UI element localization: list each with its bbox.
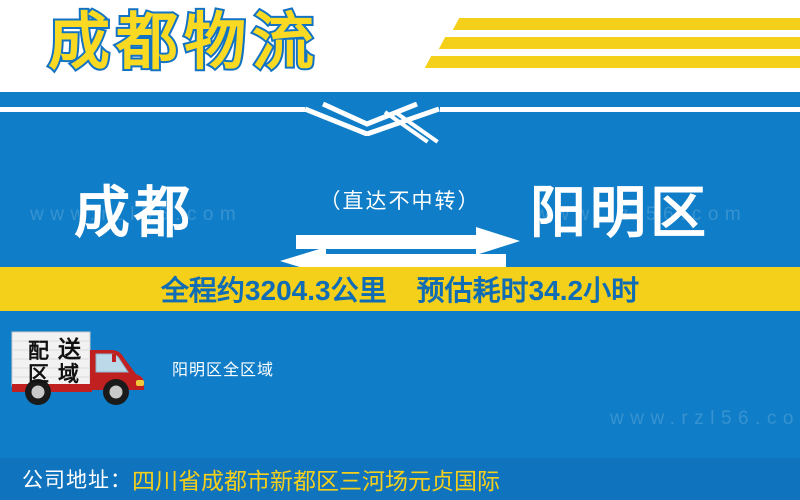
truck-box-char-1: 配 <box>28 339 49 363</box>
info-band-text: 全程约3204.3公里 预估耗时34.2小时 <box>0 267 800 311</box>
delivery-row: 配 送 区 域 阳明区全区域 <box>0 324 800 419</box>
direct-shipping-note: （直达不中转） <box>270 185 530 215</box>
stripe-3 <box>425 56 800 68</box>
estimated-duration: 预估耗时34.2小时 <box>417 269 640 309</box>
logistics-poster: 成都物流 www.rzl56.com www.rzl56.com www.rzl… <box>0 0 800 500</box>
origin-city: 成都 <box>74 177 194 249</box>
decorative-stripes <box>420 0 800 92</box>
info-band: 全程约3204.3公里 预估耗时34.2小时 <box>0 267 800 311</box>
brand-title: 成都物流 <box>48 4 320 82</box>
truck-box-char-2: 送 <box>58 336 81 363</box>
address-band: 公司地址： 四川省成都市新都区三河场元贞国际 <box>0 458 800 500</box>
total-distance: 全程约3204.3公里 <box>161 269 387 309</box>
truck-box-char-4: 域 <box>58 362 79 386</box>
poster-header: 成都物流 <box>0 0 800 92</box>
divider-line-right <box>440 107 800 112</box>
coverage-area-label: 阳明区全区域 <box>172 356 274 380</box>
stripe-2 <box>439 37 800 49</box>
divider-with-chevron <box>0 102 800 136</box>
stripe-1 <box>453 18 800 30</box>
truck-box-char-3: 区 <box>28 362 49 386</box>
poster-body: www.rzl56.com www.rzl56.com www.rzl56.co… <box>0 92 800 500</box>
address-value: 四川省成都市新都区三河场元贞国际 <box>132 462 500 496</box>
delivery-truck-icon: 配 送 区 域 <box>8 326 148 406</box>
destination-city: 阳明区 <box>530 177 710 249</box>
divider-line-left <box>0 107 305 112</box>
address-label: 公司地址： <box>22 464 132 494</box>
